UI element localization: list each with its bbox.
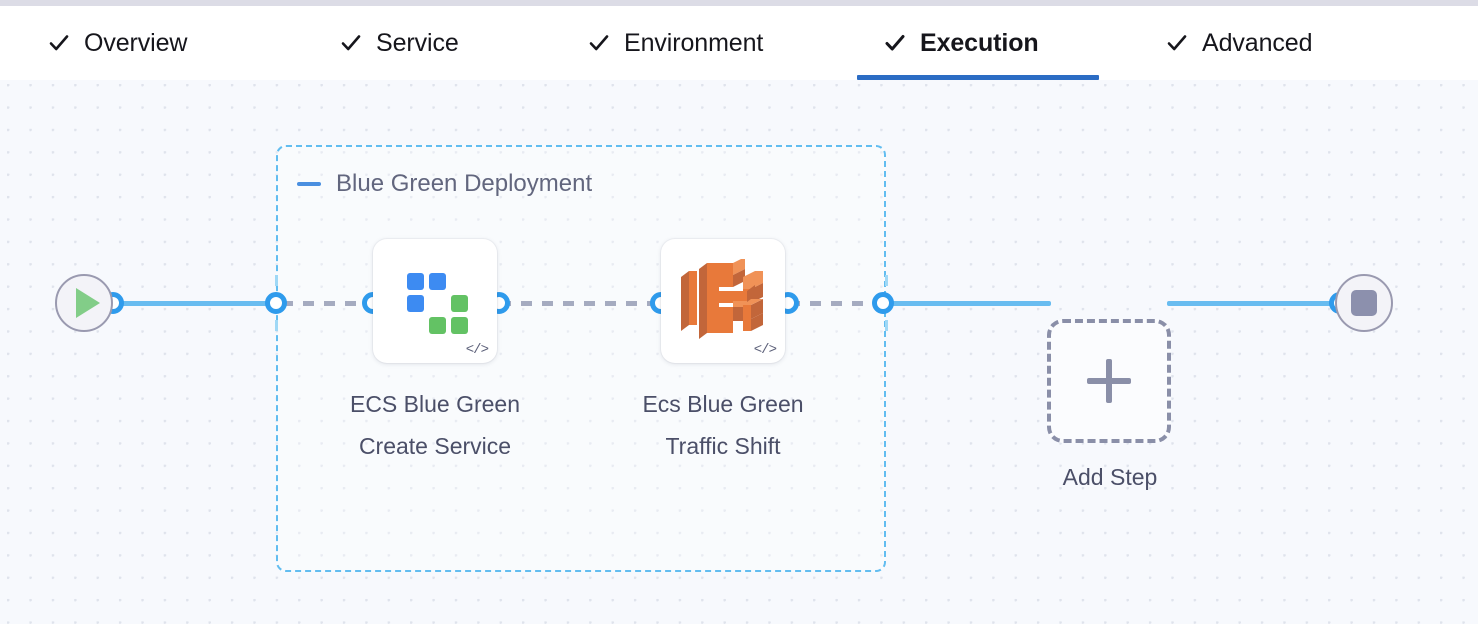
tab-label-service: Service (376, 29, 459, 58)
tab-label-execution: Execution (920, 29, 1039, 58)
connector-line-group-to-addstep (886, 301, 1051, 306)
tab-environment[interactable]: Environment (588, 6, 763, 80)
pipeline-canvas[interactable]: Blue Green Deployment (0, 80, 1478, 624)
stage-group-header[interactable]: Blue Green Deployment (296, 170, 592, 198)
code-badge-icon: </> (466, 342, 488, 358)
group-edge-marker-top-right (885, 275, 888, 286)
tab-label-advanced: Advanced (1202, 29, 1312, 58)
step-label-ecs-blue-green-create-service: ECS Blue Green Create Service (313, 383, 557, 467)
step-label-ecs-blue-green-traffic-shift: Ecs Blue Green Traffic Shift (601, 383, 845, 467)
step-tile-ecs-blue-green-traffic-shift[interactable]: </> (661, 239, 785, 363)
pipeline-end-node[interactable] (1335, 274, 1393, 332)
connector-ring-group-in[interactable] (265, 292, 287, 314)
tab-overview[interactable]: Overview (48, 6, 187, 80)
tab-label-environment: Environment (624, 29, 763, 58)
stage-group-box[interactable] (276, 145, 886, 572)
minus-icon[interactable] (296, 171, 322, 197)
plus-icon (1087, 359, 1131, 403)
stop-icon (1351, 290, 1377, 316)
check-icon (588, 32, 610, 54)
check-icon (884, 32, 906, 54)
connector-line-addstep-to-end (1167, 301, 1347, 306)
connector-line-start-to-group (110, 301, 282, 306)
check-icon (1166, 32, 1188, 54)
tab-execution[interactable]: Execution (884, 6, 1039, 80)
group-edge-marker-bottom-left (275, 320, 278, 331)
check-icon (340, 32, 362, 54)
play-icon (76, 288, 100, 318)
connector-ring-group-out[interactable] (872, 292, 894, 314)
tab-service[interactable]: Service (340, 6, 459, 80)
tab-advanced[interactable]: Advanced (1166, 6, 1312, 80)
connector-line-step1-to-step2 (500, 301, 666, 306)
add-step-button[interactable] (1047, 319, 1171, 443)
group-edge-marker-bottom-right (885, 320, 888, 331)
check-icon (48, 32, 70, 54)
add-step-label: Add Step (1000, 464, 1220, 491)
code-badge-icon: </> (754, 342, 776, 358)
stage-group-title: Blue Green Deployment (336, 170, 592, 198)
pipeline-start-node[interactable] (55, 274, 113, 332)
tab-label-overview: Overview (84, 29, 187, 58)
wizard-tab-bar: Overview Service Environment Execution A… (0, 6, 1478, 80)
group-edge-marker-top-left (275, 275, 278, 286)
step-tile-ecs-blue-green-create-service[interactable]: </> (373, 239, 497, 363)
